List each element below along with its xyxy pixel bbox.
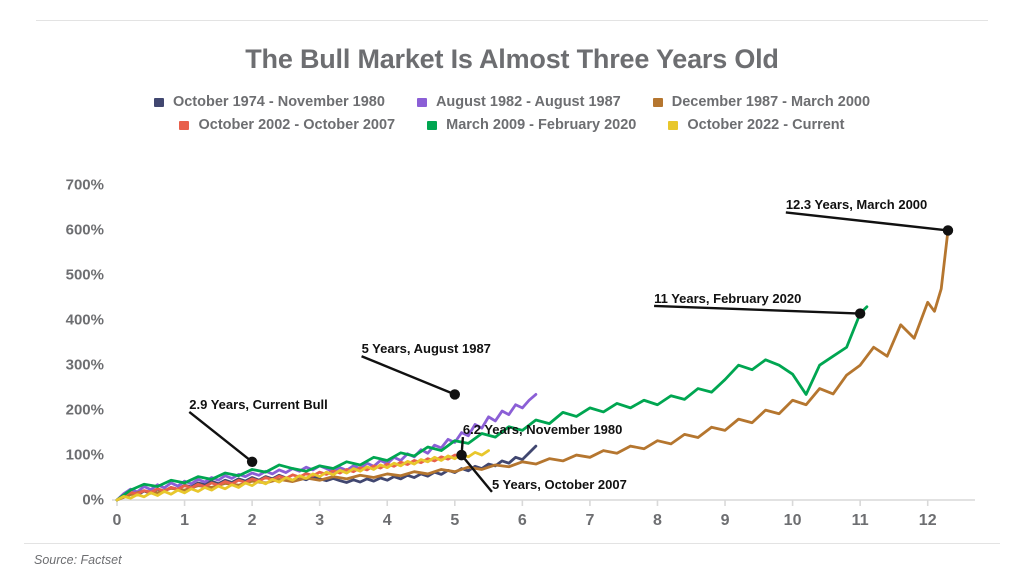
annotation-dot-a-1987 xyxy=(450,389,460,399)
series-line-b2022 xyxy=(117,451,489,500)
y-axis-tick-label: 200% xyxy=(42,402,104,419)
x-axis-tick-label: 12 xyxy=(908,512,948,530)
source-note: Source: Factset xyxy=(34,553,122,567)
annotation-label-a-1987: 5 Years, August 1987 xyxy=(362,341,491,356)
x-axis-tick-label: 6 xyxy=(502,512,542,530)
annotation-leader-a-1980 xyxy=(462,437,463,455)
legend-label: March 2009 - February 2020 xyxy=(446,117,636,133)
footer-divider xyxy=(24,543,1000,544)
chart-legend: October 1974 - November 1980 August 1982… xyxy=(0,94,1024,133)
annotation-dot-a-2007 xyxy=(456,450,466,460)
x-axis-tick-label: 1 xyxy=(165,512,205,530)
y-axis-tick-label: 700% xyxy=(42,177,104,194)
legend-item-b2002[interactable]: October 2002 - October 2007 xyxy=(179,117,395,133)
annotation-label-a-current: 2.9 Years, Current Bull xyxy=(189,397,328,412)
annotation-label-a-2020: 11 Years, February 2020 xyxy=(654,291,801,306)
y-axis-tick-label: 100% xyxy=(42,447,104,464)
y-axis-tick-label: 400% xyxy=(42,312,104,329)
legend-swatch-icon xyxy=(427,121,437,130)
x-axis-tick-label: 10 xyxy=(773,512,813,530)
x-axis-tick-label: 0 xyxy=(97,512,137,530)
x-axis-tick-label: 3 xyxy=(300,512,340,530)
series-line-b1974 xyxy=(117,446,536,500)
y-axis-tick-label: 300% xyxy=(42,357,104,374)
annotation-dot-a-2020 xyxy=(855,308,865,318)
x-axis-tick-label: 7 xyxy=(570,512,610,530)
y-axis-tick-label: 500% xyxy=(42,267,104,284)
annotation-dot-a-current xyxy=(247,457,257,467)
legend-label: December 1987 - March 2000 xyxy=(672,94,870,110)
legend-item-b1974[interactable]: October 1974 - November 1980 xyxy=(154,94,385,110)
annotation-dot-a-1980 xyxy=(456,450,466,460)
x-axis-tick-label: 8 xyxy=(637,512,677,530)
legend-swatch-icon xyxy=(179,121,189,130)
annotation-dot-a-2000 xyxy=(943,225,953,235)
x-axis-tick-label: 11 xyxy=(840,512,880,530)
header-divider xyxy=(36,20,988,21)
legend-label: October 2022 - Current xyxy=(687,117,844,133)
x-axis-tick-label: 2 xyxy=(232,512,272,530)
legend-item-b1982[interactable]: August 1982 - August 1987 xyxy=(417,94,621,110)
annotation-leader-a-current xyxy=(189,412,252,462)
series-line-b1987 xyxy=(117,230,948,500)
y-axis-tick-label: 600% xyxy=(42,222,104,239)
legend-swatch-icon xyxy=(417,98,427,107)
x-axis-tick-label: 5 xyxy=(435,512,475,530)
legend-item-b2009[interactable]: March 2009 - February 2020 xyxy=(427,117,636,133)
x-axis-tick-label: 9 xyxy=(705,512,745,530)
annotation-label-a-2000: 12.3 Years, March 2000 xyxy=(786,197,927,212)
legend-swatch-icon xyxy=(154,98,164,107)
annotation-leader-a-2000 xyxy=(786,212,948,230)
annotation-label-a-2007: 5 Years, October 2007 xyxy=(492,477,627,492)
annotation-leader-a-2007 xyxy=(462,455,492,492)
legend-row-1: October 1974 - November 1980 August 1982… xyxy=(0,94,1024,110)
legend-item-b1987[interactable]: December 1987 - March 2000 xyxy=(653,94,870,110)
legend-label: October 1974 - November 1980 xyxy=(173,94,385,110)
legend-label: August 1982 - August 1987 xyxy=(436,94,621,110)
x-axis-tick-label: 4 xyxy=(367,512,407,530)
annotation-leader-a-2020 xyxy=(654,306,860,314)
legend-label: October 2002 - October 2007 xyxy=(198,117,395,133)
annotation-leader-a-1987 xyxy=(362,356,455,394)
y-axis-tick-label: 0% xyxy=(42,492,104,509)
legend-swatch-icon xyxy=(668,121,678,130)
page-title: The Bull Market Is Almost Three Years Ol… xyxy=(0,44,1024,75)
legend-item-b2022[interactable]: October 2022 - Current xyxy=(668,117,844,133)
annotation-label-a-1980: 6.2 Years, November 1980 xyxy=(463,422,623,437)
legend-swatch-icon xyxy=(653,98,663,107)
series-line-b2002 xyxy=(117,455,462,500)
legend-row-2: October 2002 - October 2007 March 2009 -… xyxy=(0,117,1024,133)
